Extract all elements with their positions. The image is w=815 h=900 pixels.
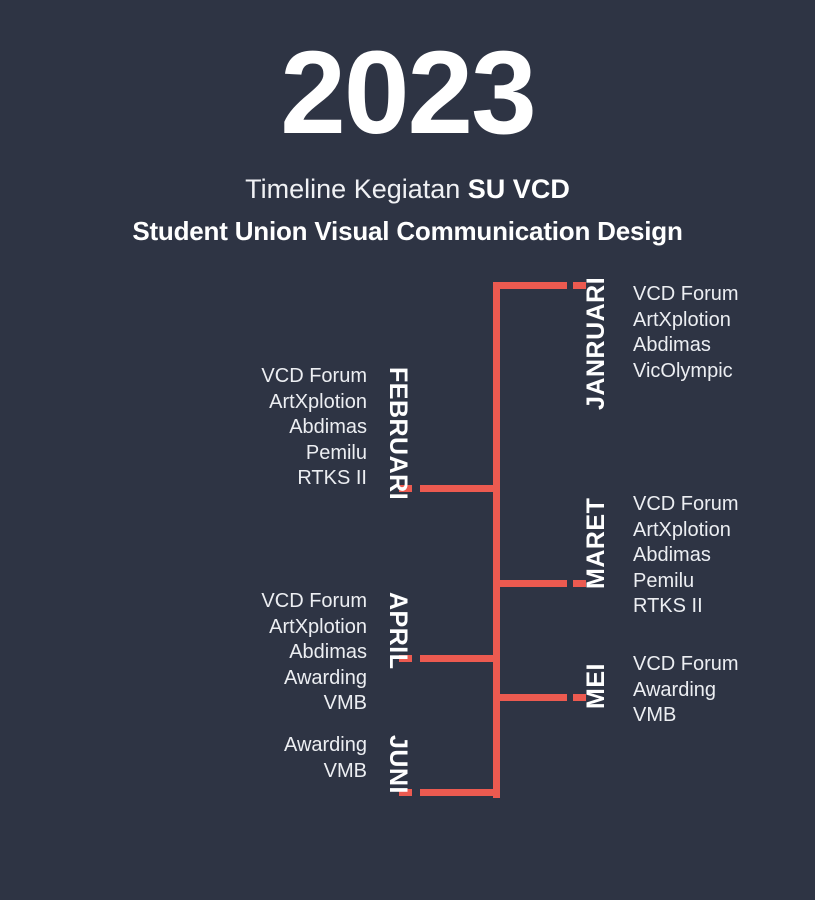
- event-list-mei: VCD Forum Awarding VMB: [633, 652, 739, 729]
- list-item: Abdimas: [180, 415, 367, 441]
- timeline-spine: [493, 282, 500, 798]
- list-item: Abdimas: [180, 640, 367, 666]
- branch-connector-juni: [420, 789, 500, 796]
- list-item: VCD Forum: [633, 492, 739, 518]
- list-item: ArtXplotion: [633, 518, 739, 544]
- month-label-juni: JUNI: [383, 735, 412, 799]
- list-item: VMB: [633, 703, 739, 729]
- list-item: Abdimas: [633, 333, 739, 359]
- list-item: Awarding: [180, 733, 367, 759]
- list-item: VCD Forum: [180, 364, 367, 390]
- list-item: ArtXplotion: [180, 615, 367, 641]
- branch-connector-maret: [493, 580, 567, 587]
- list-item: VCD Forum: [633, 282, 739, 308]
- list-item: VMB: [180, 759, 367, 785]
- month-label-april: APRIL: [383, 592, 412, 677]
- month-label-janruari: JANRUARI: [582, 277, 611, 410]
- list-item: VCD Forum: [180, 589, 367, 615]
- event-list-janruari: VCD Forum ArtXplotion Abdimas VicOlympic: [633, 282, 739, 384]
- event-list-maret: VCD Forum ArtXplotion Abdimas Pemilu RTK…: [633, 492, 739, 620]
- list-item: Abdimas: [633, 543, 739, 569]
- branch-connector-april: [420, 655, 500, 662]
- list-item: RTKS II: [180, 466, 367, 492]
- list-item: Pemilu: [633, 569, 739, 595]
- list-item: ArtXplotion: [633, 308, 739, 334]
- month-label-februari: FEBRUARI: [383, 367, 412, 494]
- branch-connector-mei: [493, 694, 567, 701]
- list-item: Awarding: [633, 678, 739, 704]
- branch-connector-janruari: [493, 282, 567, 289]
- list-item: ArtXplotion: [180, 390, 367, 416]
- event-list-april: VCD Forum ArtXplotion Abdimas Awarding V…: [180, 589, 367, 717]
- list-item: RTKS II: [633, 594, 739, 620]
- list-item: Pemilu: [180, 441, 367, 467]
- list-item: VicOlympic: [633, 359, 739, 385]
- month-label-mei: MEI: [582, 652, 611, 709]
- list-item: Awarding: [180, 666, 367, 692]
- list-item: VMB: [180, 691, 367, 717]
- event-list-februari: VCD Forum ArtXplotion Abdimas Pemilu RTK…: [180, 364, 367, 492]
- month-label-maret: MARET: [582, 492, 611, 589]
- timeline-diagram: JANRUARI VCD Forum ArtXplotion Abdimas V…: [0, 0, 815, 900]
- branch-connector-februari: [420, 485, 500, 492]
- list-item: VCD Forum: [633, 652, 739, 678]
- event-list-juni: Awarding VMB: [180, 733, 367, 784]
